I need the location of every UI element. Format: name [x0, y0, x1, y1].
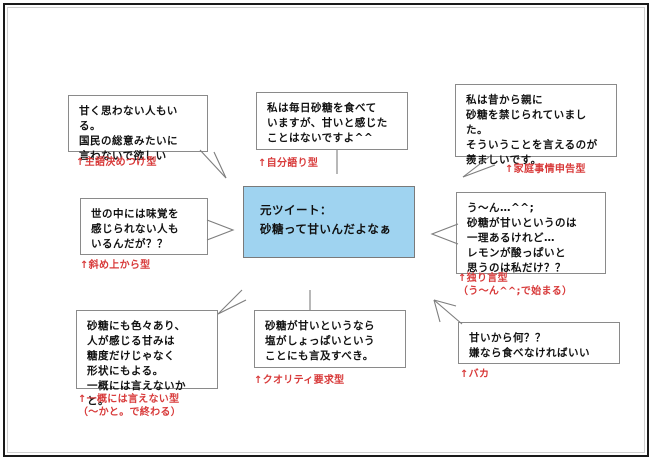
bubble-condescending: 世の中には味覚を 感じられない人も いるんだが？？ [80, 198, 208, 255]
bubble-idiot: 甘いから何？？ 嫌なら食べなければいい [458, 322, 620, 364]
label-idiot: ↑バカ [460, 368, 489, 381]
bubble-subject-assumption: 甘く思わない人もいる。 国民の総意みたいに 言わないで欲しい [68, 95, 208, 152]
bubble-cannot-generalize: 砂糖にも色々あり、 人が感じる甘みは 糖度だけじゃなく 形状にもよる。 一概には… [76, 310, 218, 389]
bubble-quality-demand: 砂糖が甘いというなら 塩がしょっぱいという ことにも言及すべき。 [254, 310, 406, 368]
label-self-narration: ↑自分語り型 [258, 157, 318, 170]
center-original-tweet: 元ツイート： 砂糖って甘いんだよなぁ [243, 186, 415, 258]
bubble-monologue: う〜ん…^^; 砂糖が甘いというのは 一理あるけれど… レモンが酸っぱいと 思う… [456, 192, 606, 274]
label-cannot-generalize: ↑一概には言えない型 （〜かと。で終わる） [78, 393, 181, 419]
label-family-circumstances: ↑家庭事情申告型 [505, 163, 586, 176]
label-monologue: ↑独り言型 （う〜ん^^;で始まる） [458, 272, 572, 298]
label-quality-demand: ↑クオリティ要求型 [254, 374, 344, 387]
bubble-family-circumstances: 私は昔から親に 砂糖を禁じられていました。 そういうことを言えるのが 羨ましいで… [455, 84, 617, 157]
label-subject-assumption: ↑主語決めつけ型 [76, 156, 157, 169]
label-condescending: ↑斜め上から型 [80, 259, 150, 272]
diagram-canvas: 甘く思わない人もいる。 国民の総意みたいに 言わないで欲しい ↑主語決めつけ型 … [0, 0, 658, 466]
bubble-self-narration: 私は毎日砂糖を食べて いますが、甘いと感じた ことはないですよ^^ [256, 92, 408, 150]
